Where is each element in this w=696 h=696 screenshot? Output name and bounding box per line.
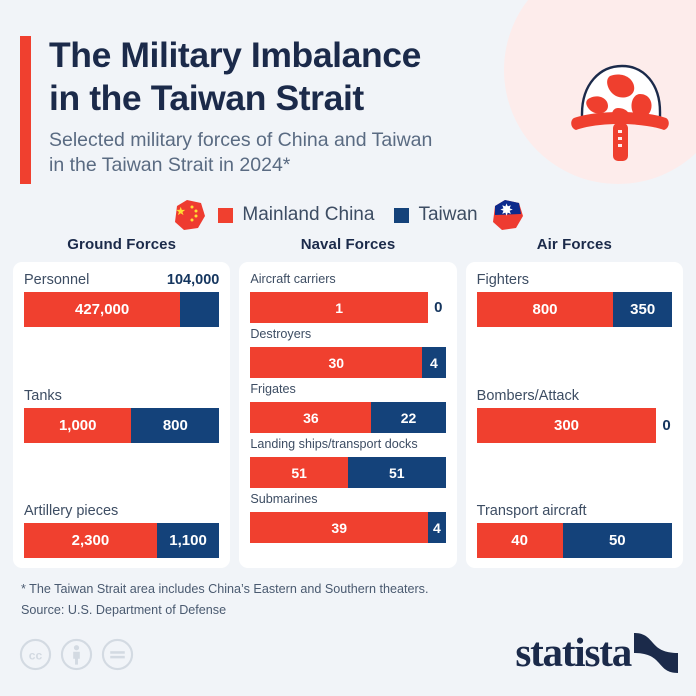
subtitle-line-1: Selected military forces of China and Ta… xyxy=(49,128,560,153)
subtitle-line-2: in the Taiwan Strait in 2024* xyxy=(49,153,560,178)
bar-segment-taiwan: 51 xyxy=(348,457,446,488)
legend: Mainland China Taiwan xyxy=(0,198,696,232)
metric-artillery-pieces: Artillery pieces 2,300 1,100 xyxy=(24,503,219,558)
china-flag-icon xyxy=(171,198,207,232)
metric-label-transport-aircraft: Transport aircraft xyxy=(477,503,587,519)
bar-transport-aircraft: 40 50 xyxy=(477,523,672,558)
legend-label-taiwan: Taiwan xyxy=(418,204,477,226)
column-naval-forces: Naval Forces Aircraft carriers 1 0 xyxy=(239,236,456,568)
page-title: The Military Imbalance in the Taiwan Str… xyxy=(49,34,560,120)
bar-personnel: 427,000 xyxy=(24,292,219,327)
column-air-forces: Air Forces Fighters 800 350 Bom xyxy=(466,236,683,568)
bar-fighters: 800 350 xyxy=(477,292,672,327)
bar-bombers-attack: 300 xyxy=(477,408,657,443)
forces-columns: Ground Forces Personnel 104,000 427,000 xyxy=(0,236,696,568)
bar-segment-taiwan: 22 xyxy=(371,402,445,433)
accent-bar xyxy=(20,36,31,184)
metric-label-personnel: Personnel xyxy=(24,272,89,288)
metric-destroyers: Destroyers 30 4 xyxy=(250,327,445,378)
metric-label-tanks: Tanks xyxy=(24,388,62,404)
bar-segment-taiwan: 350 xyxy=(613,292,672,327)
metric-label-landing-ships: Landing ships/transport docks xyxy=(250,437,417,451)
bar-segment-china: 800 xyxy=(477,292,614,327)
metric-bombers-attack: Bombers/Attack 300 0 xyxy=(477,388,672,443)
metric-label-frigates: Frigates xyxy=(250,382,296,396)
column-title-air: Air Forces xyxy=(466,236,683,253)
metric-label-artillery-pieces: Artillery pieces xyxy=(24,503,118,519)
statista-logo: statista xyxy=(515,632,678,673)
bar-frigates: 36 22 xyxy=(250,402,445,433)
bar-segment-china: 2,300 xyxy=(24,523,157,558)
metric-submarines: Submarines 39 4 xyxy=(250,492,445,543)
bar-segment-china: 300 xyxy=(477,408,657,443)
cc-icon[interactable]: cc xyxy=(19,638,52,671)
source-text: Source: U.S. Department of Defense xyxy=(21,600,621,621)
legend-item-china: Mainland China xyxy=(218,204,374,226)
bar-tanks: 1,000 800 xyxy=(24,408,219,443)
bar-segment-china: 36 xyxy=(250,402,371,433)
bar-segment-taiwan: 50 xyxy=(563,523,672,558)
bar-outside-value-taiwan: 0 xyxy=(656,417,670,434)
military-helmet-icon xyxy=(566,52,674,170)
bar-segment-china: 40 xyxy=(477,523,563,558)
metric-frigates: Frigates 36 22 xyxy=(250,382,445,433)
footnote-text: * The Taiwan Strait area includes China’… xyxy=(21,579,621,600)
title-line-1: The Military Imbalance xyxy=(49,34,560,77)
creative-commons-icons: cc xyxy=(19,638,134,671)
metric-outside-value-personnel: 104,000 xyxy=(167,272,219,288)
bar-segment-taiwan: 1,100 xyxy=(157,523,220,558)
bar-segment-taiwan: 4 xyxy=(422,347,445,378)
metric-label-fighters: Fighters xyxy=(477,272,529,288)
bar-aircraft-carriers: 1 xyxy=(250,292,428,323)
bar-outside-value-taiwan: 0 xyxy=(428,299,442,316)
metric-label-bombers-attack: Bombers/Attack xyxy=(477,388,579,404)
taiwan-flag-icon xyxy=(489,198,525,232)
bar-segment-taiwan: 4 xyxy=(428,512,446,543)
bar-destroyers: 30 4 xyxy=(250,347,445,378)
statista-wordmark: statista xyxy=(515,632,631,673)
bar-segment-taiwan xyxy=(180,292,219,327)
statista-mark-icon xyxy=(634,633,678,673)
metric-aircraft-carriers: Aircraft carriers 1 0 xyxy=(250,272,445,323)
bar-segment-china: 1 xyxy=(250,292,428,323)
title-line-2: in the Taiwan Strait xyxy=(49,77,560,120)
infographic-root: The Military Imbalance in the Taiwan Str… xyxy=(0,0,696,696)
metric-label-aircraft-carriers: Aircraft carriers xyxy=(250,272,335,286)
metric-personnel: Personnel 104,000 427,000 xyxy=(24,272,219,327)
metric-tanks: Tanks 1,000 800 xyxy=(24,388,219,443)
legend-swatch-taiwan xyxy=(394,208,409,223)
legend-label-china: Mainland China xyxy=(242,204,374,226)
cc-by-icon[interactable] xyxy=(60,638,93,671)
bar-landing-ships: 51 51 xyxy=(250,457,445,488)
footnote-block: * The Taiwan Strait area includes China’… xyxy=(21,579,621,621)
page-subtitle: Selected military forces of China and Ta… xyxy=(49,128,560,178)
card-ground-forces: Personnel 104,000 427,000 Tanks xyxy=(13,262,230,568)
metric-fighters: Fighters 800 350 xyxy=(477,272,672,327)
metric-label-submarines: Submarines xyxy=(250,492,317,506)
bar-segment-china: 30 xyxy=(250,347,422,378)
bar-submarines: 39 4 xyxy=(250,512,445,543)
bar-segment-china: 39 xyxy=(250,512,428,543)
bar-segment-taiwan: 800 xyxy=(131,408,219,443)
header: The Military Imbalance in the Taiwan Str… xyxy=(20,34,560,178)
card-naval-forces: Aircraft carriers 1 0 Destroyers xyxy=(239,262,456,568)
card-air-forces: Fighters 800 350 Bombers/Attack xyxy=(466,262,683,568)
column-title-naval: Naval Forces xyxy=(239,236,456,253)
metric-transport-aircraft: Transport aircraft 40 50 xyxy=(477,503,672,558)
bar-segment-china: 51 xyxy=(250,457,348,488)
metric-landing-ships: Landing ships/transport docks 51 51 xyxy=(250,437,445,488)
column-title-ground: Ground Forces xyxy=(13,236,230,253)
bar-artillery-pieces: 2,300 1,100 xyxy=(24,523,219,558)
legend-swatch-china xyxy=(218,208,233,223)
svg-text:cc: cc xyxy=(29,648,43,662)
legend-item-taiwan: Taiwan xyxy=(394,204,477,226)
metric-label-destroyers: Destroyers xyxy=(250,327,311,341)
cc-nd-icon[interactable] xyxy=(101,638,134,671)
bar-segment-china: 1,000 xyxy=(24,408,131,443)
column-ground-forces: Ground Forces Personnel 104,000 427,000 xyxy=(13,236,230,568)
bar-segment-china: 427,000 xyxy=(24,292,180,327)
